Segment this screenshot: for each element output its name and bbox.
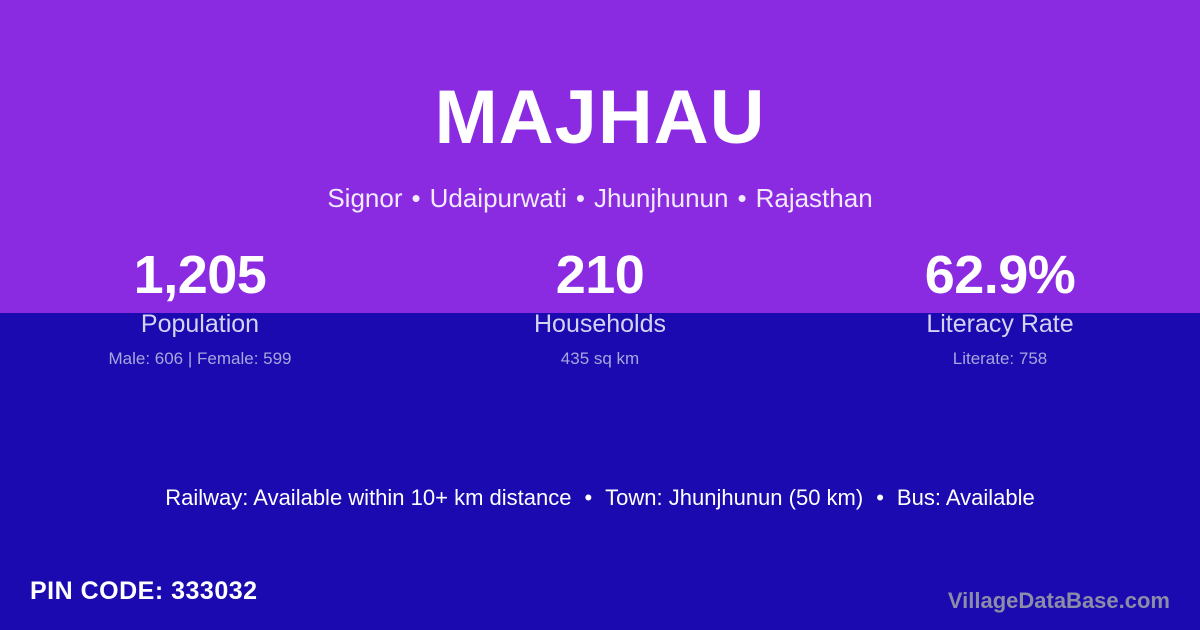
- village-info-card: MAJHAU Signor•Udaipurwati•Jhunjhunun•Raj…: [0, 0, 1200, 630]
- info-item: Bus: Available: [897, 485, 1035, 510]
- breadcrumb-item: Udaipurwati: [430, 183, 567, 213]
- stat-card-households: 210Households435 sq km: [400, 245, 800, 370]
- stat-card-literacy-rate: 62.9%Literacy RateLiterate: 758: [800, 245, 1200, 370]
- info-separator: •: [863, 485, 897, 510]
- stat-value: 62.9%: [800, 245, 1200, 305]
- breadcrumb: Signor•Udaipurwati•Jhunjhunun•Rajasthan: [0, 183, 1200, 214]
- amenities-info-row: Railway: Available within 10+ km distanc…: [0, 484, 1200, 513]
- stat-label: Literacy Rate: [800, 309, 1200, 339]
- breadcrumb-item: Signor: [327, 183, 402, 213]
- info-separator: •: [571, 485, 605, 510]
- stat-sublabel: Literate: 758: [800, 349, 1200, 369]
- stat-sublabel: Male: 606 | Female: 599: [0, 349, 400, 369]
- site-credit-label: VillageDataBase.com: [948, 588, 1170, 614]
- stat-value: 210: [400, 245, 800, 305]
- stat-card-population: 1,205PopulationMale: 606 | Female: 599: [0, 245, 400, 370]
- info-item: Town: Jhunjhunun (50 km): [605, 485, 863, 510]
- breadcrumb-item: Rajasthan: [756, 183, 873, 213]
- page-title: MAJHAU: [0, 80, 1200, 156]
- stats-row: 1,205PopulationMale: 606 | Female: 59921…: [0, 245, 1200, 370]
- info-item: Railway: Available within 10+ km distanc…: [165, 485, 571, 510]
- stat-sublabel: 435 sq km: [400, 349, 800, 369]
- breadcrumb-separator: •: [728, 183, 755, 213]
- stat-value: 1,205: [0, 245, 400, 305]
- breadcrumb-separator: •: [402, 183, 429, 213]
- stat-label: Households: [400, 309, 800, 339]
- pin-code-label: PIN CODE: 333032: [30, 576, 258, 606]
- breadcrumb-separator: •: [567, 183, 594, 213]
- breadcrumb-item: Jhunjhunun: [594, 183, 728, 213]
- stat-label: Population: [0, 309, 400, 339]
